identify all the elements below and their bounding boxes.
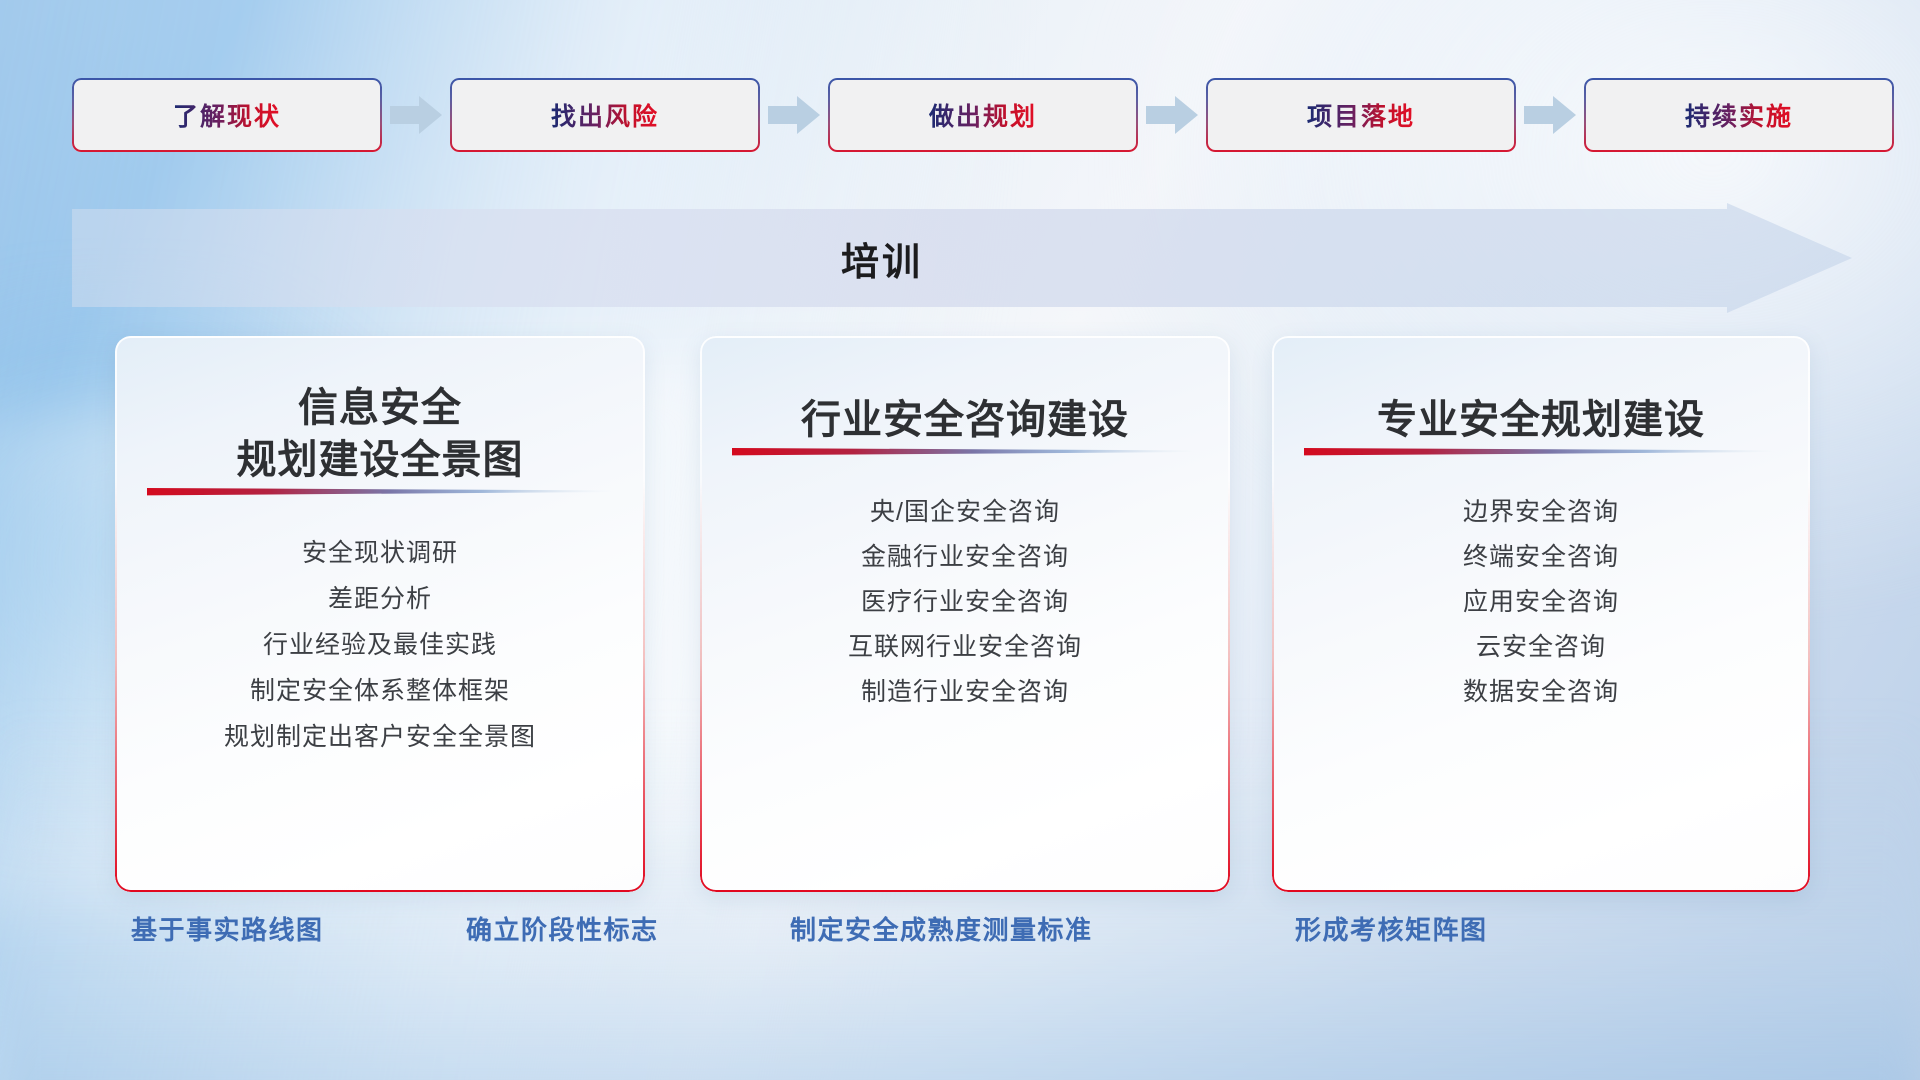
process-step-3[interactable]: 做出规划	[828, 78, 1138, 152]
caption-item: 制定安全成熟度测量标准	[790, 910, 1093, 947]
process-step-5[interactable]: 持续实施	[1584, 78, 1894, 152]
process-step-label: 了解现状	[173, 97, 281, 133]
list-item: 医疗行业安全咨询	[700, 580, 1230, 625]
card-divider	[147, 486, 613, 496]
right-arrow-icon	[1521, 93, 1579, 137]
list-item: 金融行业安全咨询	[700, 535, 1230, 580]
card-title-line: 信息安全	[139, 382, 621, 434]
process-step-label: 做出规划	[929, 97, 1037, 133]
card-industry-security-consulting[interactable]: 行业安全咨询建设 央/国企安全咨询 金融行业安全咨询	[700, 336, 1230, 892]
card-title: 行业安全咨询建设	[700, 394, 1230, 446]
process-step-4[interactable]: 项目落地	[1206, 78, 1516, 152]
list-item: 制造行业安全咨询	[700, 670, 1230, 715]
right-arrow-icon	[765, 93, 823, 137]
process-step-label: 找出风险	[551, 97, 659, 133]
list-item: 互联网行业安全咨询	[700, 625, 1230, 670]
training-banner-label: 培训	[72, 203, 1852, 313]
list-item: 央/国企安全咨询	[700, 490, 1230, 535]
list-item: 安全现状调研	[115, 530, 645, 576]
card-title: 信息安全 规划建设全景图	[115, 382, 645, 486]
training-banner: 培训	[72, 203, 1852, 313]
card-row: 信息安全 规划建设全景图 安全现状调研 差	[0, 336, 1920, 892]
list-item: 数据安全咨询	[1272, 670, 1810, 715]
caption-item: 确立阶段性标志	[466, 910, 659, 947]
card-professional-security-planning[interactable]: 专业安全规划建设 边界安全咨询 终端安全咨询	[1272, 336, 1810, 892]
list-item: 制定安全体系整体框架	[115, 668, 645, 714]
process-step-2[interactable]: 找出风险	[450, 78, 760, 152]
caption-row: 基于事实路线图 确立阶段性标志 制定安全成熟度测量标准 形成考核矩阵图	[0, 910, 1920, 970]
right-arrow-icon	[387, 93, 445, 137]
card-divider	[1304, 446, 1778, 456]
card-item-list: 央/国企安全咨询 金融行业安全咨询 医疗行业安全咨询 互联网行业安全咨询 制造行…	[700, 490, 1230, 715]
card-item-list: 边界安全咨询 终端安全咨询 应用安全咨询 云安全咨询 数据安全咨询	[1272, 490, 1810, 715]
process-step-row: 了解现状 找出风险 做出规划 项目落地 持续实施	[72, 76, 1852, 154]
list-item: 应用安全咨询	[1272, 580, 1810, 625]
process-step-label: 项目落地	[1307, 97, 1415, 133]
card-title: 专业安全规划建设	[1272, 394, 1810, 446]
card-title-line: 专业安全规划建设	[1296, 394, 1786, 446]
caption-item: 形成考核矩阵图	[1295, 910, 1488, 947]
card-title-line: 规划建设全景图	[139, 434, 621, 486]
list-item: 云安全咨询	[1272, 625, 1810, 670]
caption-item: 基于事实路线图	[131, 910, 324, 947]
card-item-list: 安全现状调研 差距分析 行业经验及最佳实践 制定安全体系整体框架 规划制定出客户…	[115, 530, 645, 760]
list-item: 差距分析	[115, 576, 645, 622]
right-arrow-icon	[1143, 93, 1201, 137]
process-step-label: 持续实施	[1685, 97, 1793, 133]
list-item: 规划制定出客户安全全景图	[115, 714, 645, 760]
card-title-line: 行业安全咨询建设	[724, 394, 1206, 446]
list-item: 终端安全咨询	[1272, 535, 1810, 580]
list-item: 行业经验及最佳实践	[115, 622, 645, 668]
card-divider	[732, 446, 1198, 456]
list-item: 边界安全咨询	[1272, 490, 1810, 535]
process-step-1[interactable]: 了解现状	[72, 78, 382, 152]
card-information-security[interactable]: 信息安全 规划建设全景图 安全现状调研 差	[115, 336, 645, 892]
